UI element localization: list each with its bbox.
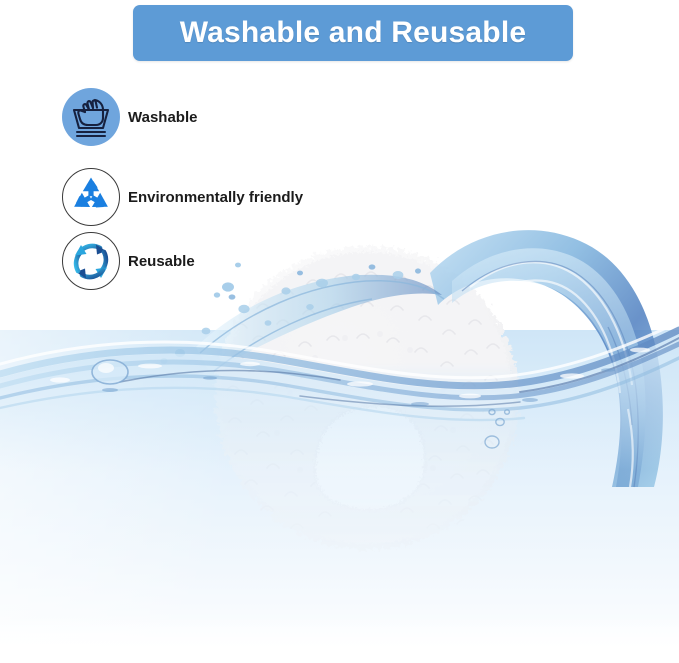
feature-label-washable: Washable	[128, 88, 197, 146]
cycle-arrows-icon	[62, 232, 120, 290]
background-bottom-fade	[0, 617, 679, 663]
water-surface	[0, 300, 679, 470]
recycle-icon	[62, 168, 120, 226]
feature-item-reusable: Reusable	[0, 232, 400, 298]
recycle-glyph	[62, 168, 120, 226]
page-title: Washable and Reusable	[180, 16, 527, 50]
hand-wash-glyph	[62, 88, 120, 146]
title-banner: Washable and Reusable	[133, 5, 573, 61]
cycle-arrows-glyph	[62, 232, 120, 290]
feature-item-washable: Washable	[0, 88, 400, 154]
product-feature-image: Washable and Reusable	[0, 0, 679, 663]
feature-label-environmentally-friendly: Environmentally friendly	[128, 168, 303, 226]
feature-item-environmentally-friendly: Environmentally friendly	[0, 168, 400, 234]
feature-label-reusable: Reusable	[128, 232, 195, 290]
hand-wash-icon	[62, 88, 120, 146]
